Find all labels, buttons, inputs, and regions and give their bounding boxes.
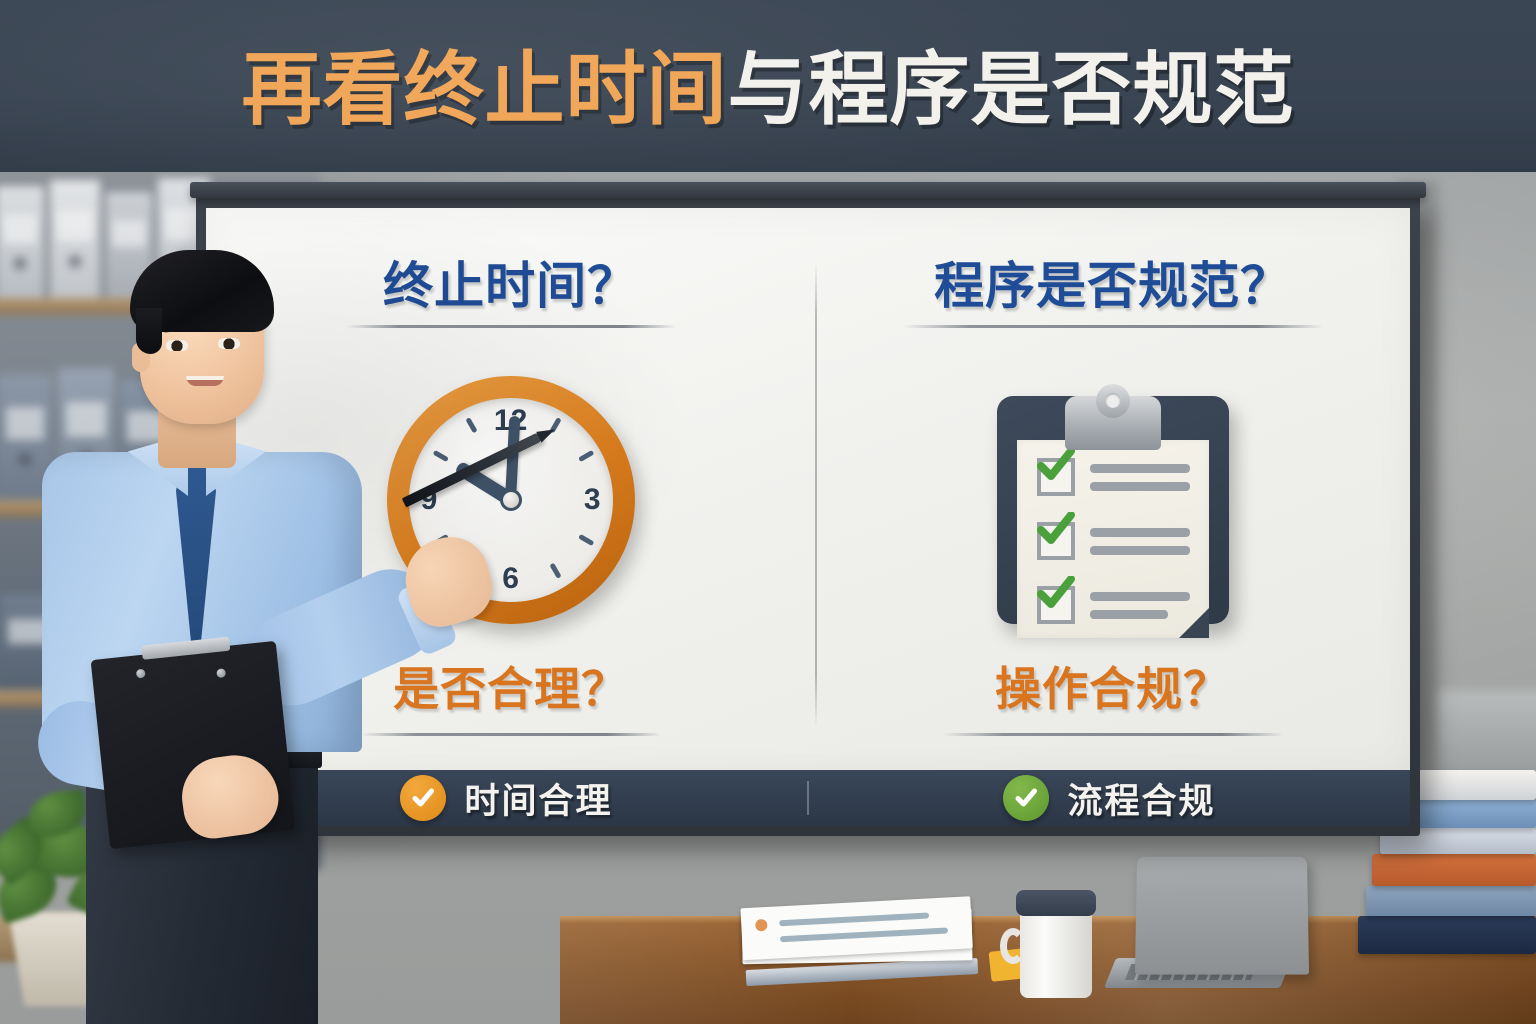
clock-number-3: 3: [584, 485, 601, 515]
checklist-lines: [1090, 464, 1190, 491]
check-icon: [1036, 576, 1076, 610]
checklist-lines: [1090, 592, 1190, 619]
heading-rule-right: [903, 325, 1323, 328]
check-circle-icon: [1003, 775, 1049, 821]
clipboard-clip: [1065, 396, 1161, 450]
panel-heading-right: 程序是否规范？: [815, 260, 1410, 328]
coffee-mug: [1020, 904, 1092, 998]
title-highlight: 再看终止时间: [242, 45, 728, 134]
panel-footer-right: 操作合规？: [815, 653, 1410, 736]
clock-tick: [578, 450, 594, 462]
checklist-row: [1037, 586, 1190, 624]
footer-text-right: 操作合规？: [815, 653, 1410, 719]
panel-procedure-compliance: 程序是否规范？: [815, 208, 1410, 774]
laptop: [1110, 860, 1320, 1002]
footer-rule-right: [943, 733, 1283, 736]
clock-tick: [578, 534, 594, 546]
page-fold: [1179, 608, 1209, 638]
check-icon: [1036, 448, 1076, 482]
checkbox-icon: [1037, 458, 1075, 496]
check-icon: [1036, 512, 1076, 546]
checklist-row: [1037, 458, 1190, 496]
title-rest: 与程序是否规范: [728, 45, 1295, 134]
top-banner: 再看终止时间与程序是否规范: [0, 0, 1536, 172]
clock-tick: [549, 563, 561, 579]
status-label-procedure: 流程合规: [1067, 773, 1215, 824]
page-title: 再看终止时间与程序是否规范: [0, 50, 1536, 130]
hair: [130, 250, 274, 332]
checkbox-icon: [1037, 522, 1075, 560]
clipboard-checklist-icon: [997, 368, 1229, 626]
clock-center-cap: [500, 489, 522, 511]
clock-number-6: 6: [502, 564, 519, 594]
status-item-procedure[interactable]: 流程合规: [809, 773, 1410, 824]
mouth: [186, 376, 224, 386]
checklist-row: [1037, 522, 1190, 560]
presenter-figure: [0, 194, 470, 1024]
status-label-time: 时间合理: [464, 773, 612, 824]
checkbox-icon: [1037, 586, 1075, 624]
poster-canvas: 再看终止时间与程序是否规范: [0, 0, 1536, 1024]
heading-text-right: 程序是否规范？: [815, 260, 1410, 313]
checklist-lines: [1090, 528, 1190, 555]
paper-stack: [740, 896, 983, 974]
